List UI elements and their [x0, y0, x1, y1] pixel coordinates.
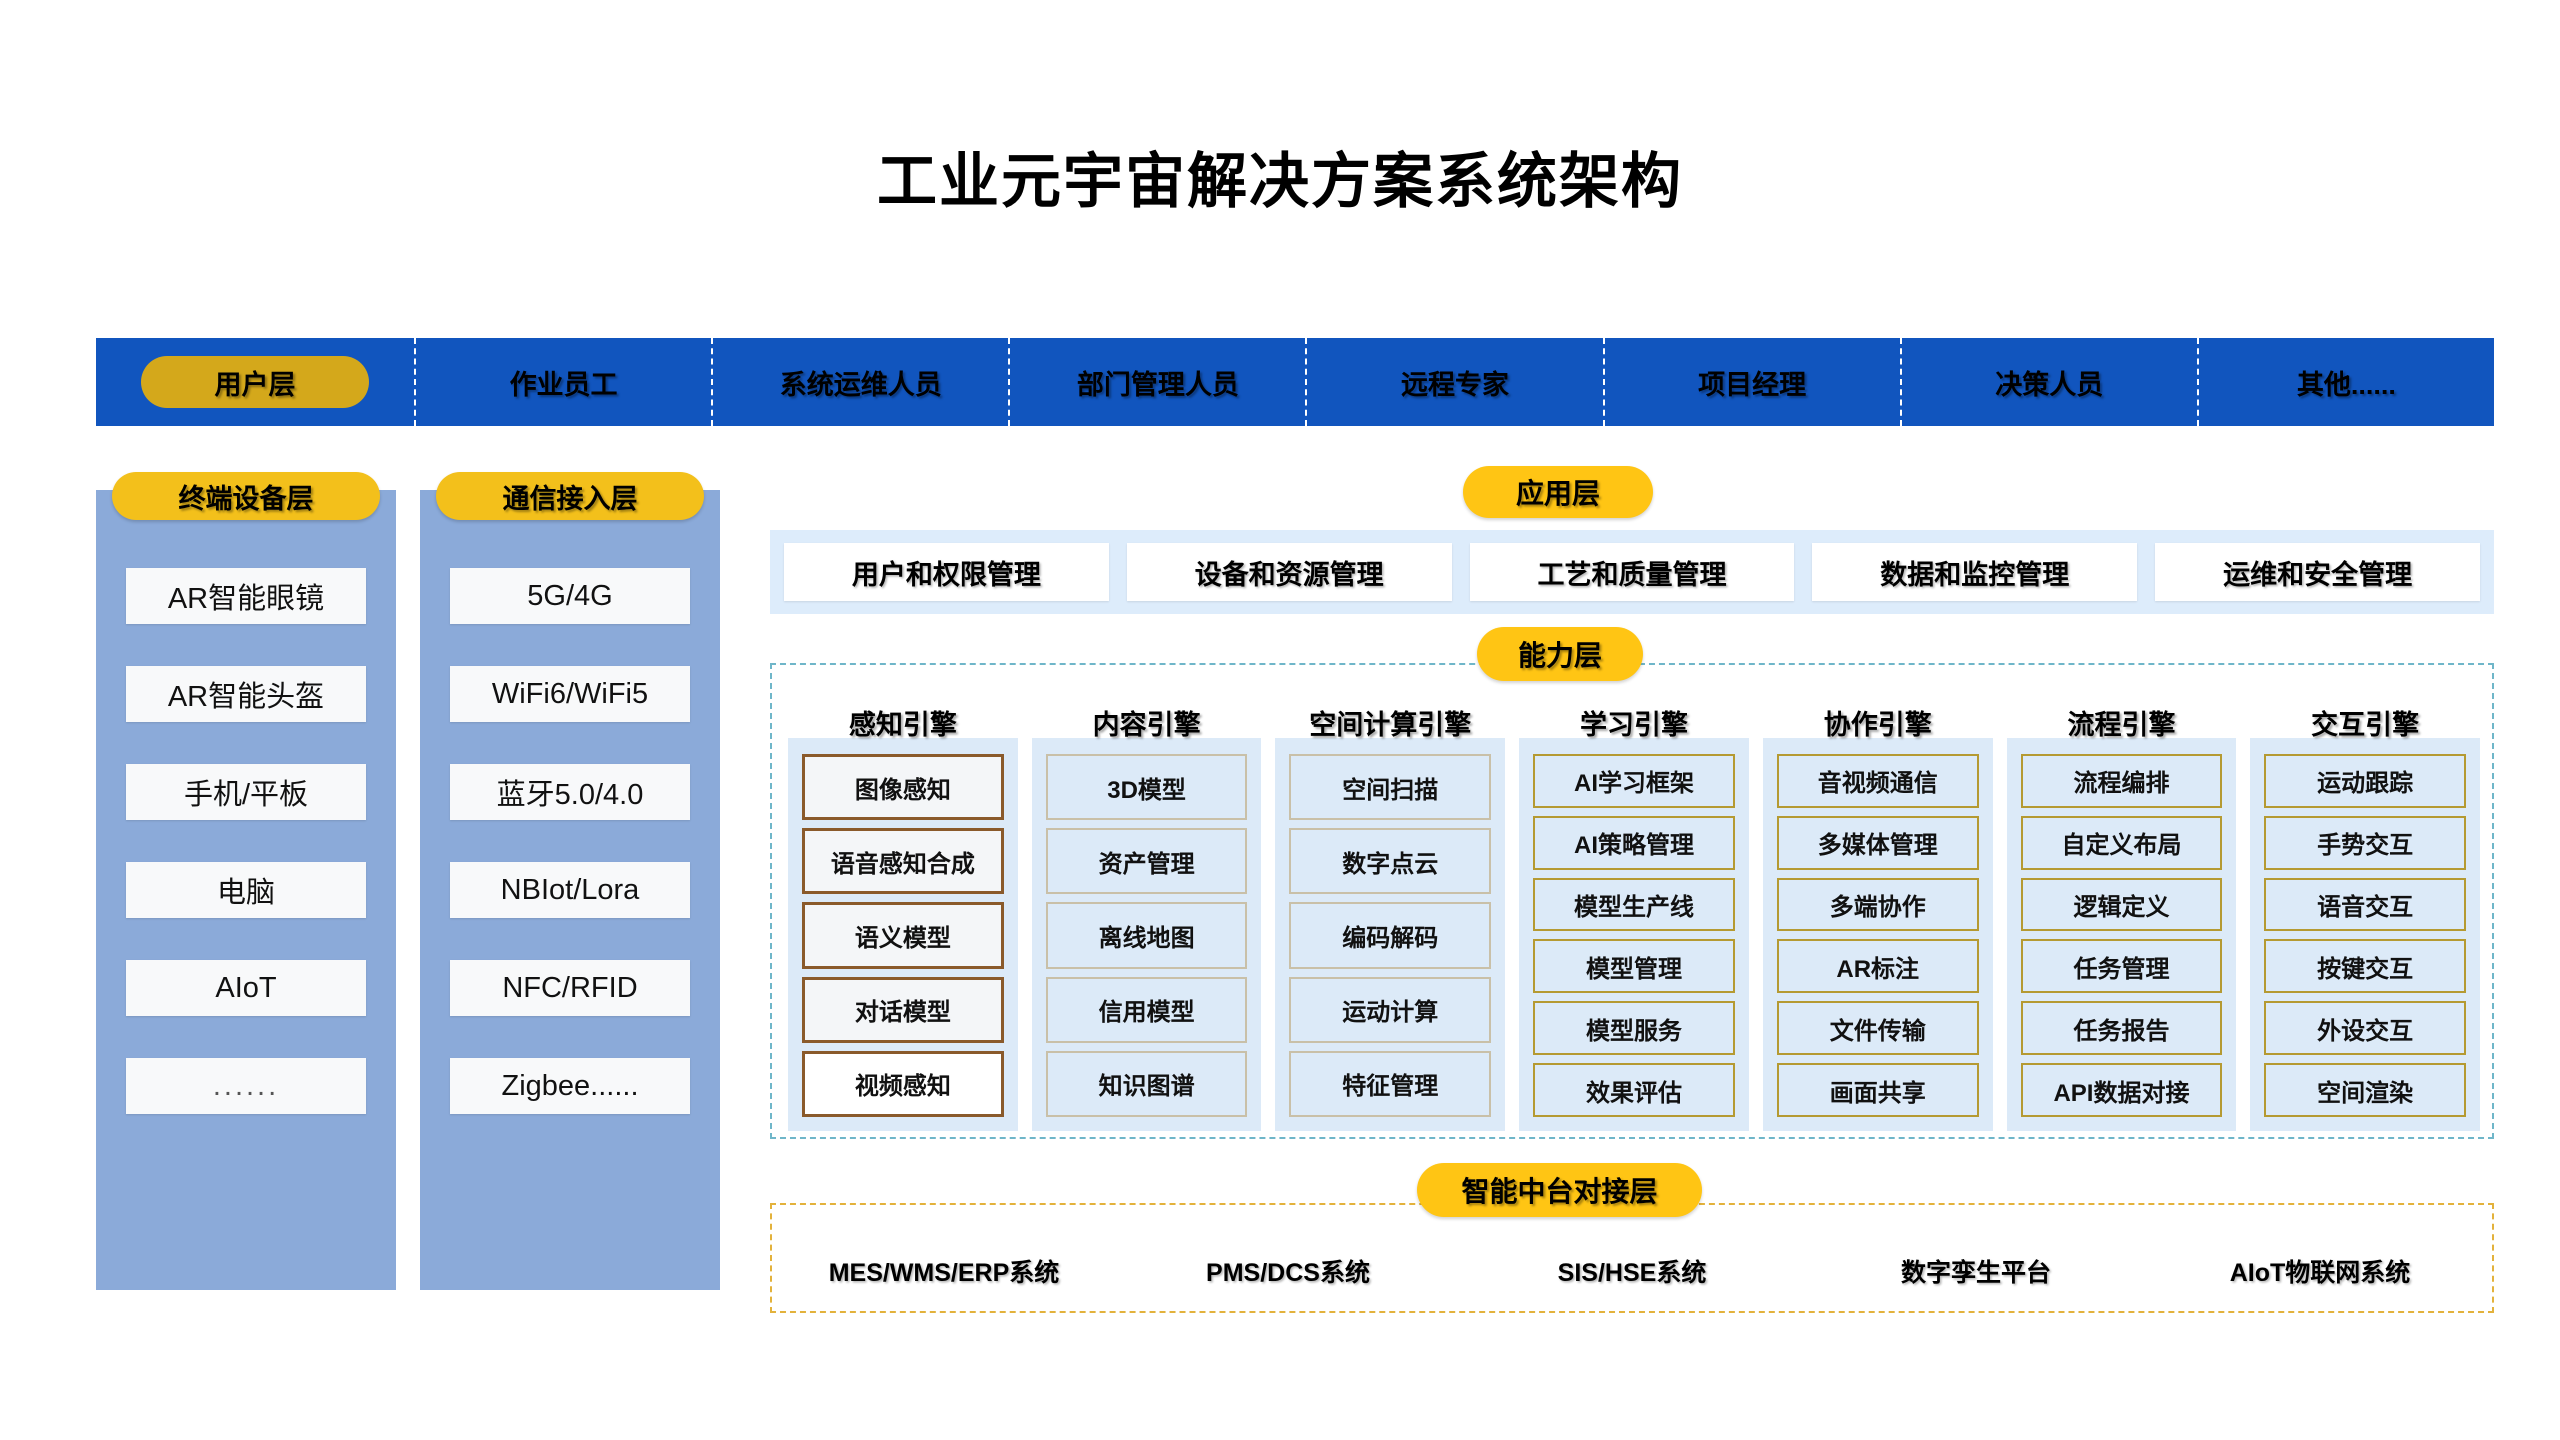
page-title: 工业元宇宙解决方案系统架构 [0, 133, 2560, 220]
capability-item: 音视频通信 [1777, 754, 1979, 808]
capability-item: API数据对接 [2021, 1063, 2223, 1117]
comm-item: 蓝牙5.0/4.0 [450, 764, 690, 820]
device-item: AIoT [126, 960, 366, 1016]
capability-item: 对话模型 [802, 977, 1004, 1043]
device-layer-items: AR智能眼镜 AR智能头盔 手机/平板 电脑 AIoT ...... [96, 568, 396, 1114]
comm-layer-column: 5G/4G WiFi6/WiFi5 蓝牙5.0/4.0 NBIot/Lora N… [420, 490, 720, 1290]
app-layer-band: 用户和权限管理 设备和资源管理 工艺和质量管理 数据和监控管理 运维和安全管理 [770, 530, 2494, 614]
user-role-cell: 系统运维人员 [713, 338, 1010, 426]
capability-item: 数字点云 [1289, 828, 1491, 894]
user-role-cell: 其他...... [2199, 338, 2494, 426]
capability-item: 任务报告 [2021, 1001, 2223, 1055]
capability-column-title: 流程引擎 [2007, 703, 2237, 742]
capability-item: 模型服务 [1533, 1001, 1735, 1055]
device-item: 手机/平板 [126, 764, 366, 820]
capability-item: 模型管理 [1533, 939, 1735, 993]
capability-column-panel: 流程编排 自定义布局 逻辑定义 任务管理 任务报告 API数据对接 [2007, 738, 2237, 1131]
capability-item: 语义模型 [802, 902, 1004, 968]
capability-item: 空间扫描 [1289, 754, 1491, 820]
user-role-cell: 部门管理人员 [1010, 338, 1307, 426]
capability-item: 多媒体管理 [1777, 816, 1979, 870]
capability-column-panel: 音视频通信 多媒体管理 多端协作 AR标注 文件传输 画面共享 [1763, 738, 1993, 1131]
capability-column-panel: AI学习框架 AI策略管理 模型生产线 模型管理 模型服务 效果评估 [1519, 738, 1749, 1131]
app-item: 数据和监控管理 [1812, 543, 2137, 601]
user-layer-pill-cell: 用户层 [96, 338, 416, 426]
capability-item: 手势交互 [2264, 816, 2466, 870]
comm-item: 5G/4G [450, 568, 690, 624]
capability-column-collaboration: 协作引擎 音视频通信 多媒体管理 多端协作 AR标注 文件传输 画面共享 [1763, 705, 1993, 1131]
capability-column-title: 交互引擎 [2250, 703, 2480, 742]
capability-item: 空间渲染 [2264, 1063, 2466, 1117]
capability-item: 信用模型 [1046, 977, 1248, 1043]
capability-column-title: 协作引擎 [1763, 703, 1993, 742]
capability-item: 运动跟踪 [2264, 754, 2466, 808]
capability-item: 按键交互 [2264, 939, 2466, 993]
middle-platform-item: SIS/HSE系统 [1460, 1253, 1804, 1289]
capability-item: AI策略管理 [1533, 816, 1735, 870]
app-item: 设备和资源管理 [1127, 543, 1452, 601]
capability-item: 图像感知 [802, 754, 1004, 820]
comm-item: NFC/RFID [450, 960, 690, 1016]
comm-layer-items: 5G/4G WiFi6/WiFi5 蓝牙5.0/4.0 NBIot/Lora N… [420, 568, 720, 1114]
middle-platform-band: MES/WMS/ERP系统 PMS/DCS系统 SIS/HSE系统 数字孪生平台… [770, 1203, 2494, 1313]
capability-item: 运动计算 [1289, 977, 1491, 1043]
comm-item: Zigbee...... [450, 1058, 690, 1114]
capability-column-panel: 运动跟踪 手势交互 语音交互 按键交互 外设交互 空间渲染 [2250, 738, 2480, 1131]
app-layer-items: 用户和权限管理 设备和资源管理 工艺和质量管理 数据和监控管理 运维和安全管理 [784, 543, 2480, 601]
capability-item: 离线地图 [1046, 902, 1248, 968]
comm-item: NBIot/Lora [450, 862, 690, 918]
capability-item: 文件传输 [1777, 1001, 1979, 1055]
capability-column-title: 内容引擎 [1032, 703, 1262, 742]
capability-item: 多端协作 [1777, 878, 1979, 932]
comm-item: WiFi6/WiFi5 [450, 666, 690, 722]
capability-item: 知识图谱 [1046, 1051, 1248, 1117]
capability-item: 语音交互 [2264, 878, 2466, 932]
capability-column-panel: 空间扫描 数字点云 编码解码 运动计算 特征管理 [1275, 738, 1505, 1131]
device-item: AR智能头盔 [126, 666, 366, 722]
capability-column-title: 学习引擎 [1519, 703, 1749, 742]
capability-item: 画面共享 [1777, 1063, 1979, 1117]
middle-platform-item: MES/WMS/ERP系统 [772, 1253, 1116, 1289]
capability-column-title: 空间计算引擎 [1275, 703, 1505, 742]
capability-layer-columns: 感知引擎 图像感知 语音感知合成 语义模型 对话模型 视频感知 内容引擎 3D模… [788, 705, 2480, 1131]
middle-platform-item: PMS/DCS系统 [1116, 1253, 1460, 1289]
capability-item: 流程编排 [2021, 754, 2223, 808]
capability-item: 3D模型 [1046, 754, 1248, 820]
architecture-diagram: 工业元宇宙解决方案系统架构 用户层 作业员工 系统运维人员 部门管理人员 远程专… [0, 0, 2560, 1440]
middle-platform-item: AIoT物联网系统 [2148, 1253, 2492, 1289]
capability-item: 自定义布局 [2021, 816, 2223, 870]
capability-item: 效果评估 [1533, 1063, 1735, 1117]
device-item: 电脑 [126, 862, 366, 918]
capability-item: 模型生产线 [1533, 878, 1735, 932]
device-item-more: ...... [126, 1058, 366, 1114]
app-item: 用户和权限管理 [784, 543, 1109, 601]
capability-column-interaction: 交互引擎 运动跟踪 手势交互 语音交互 按键交互 外设交互 空间渲染 [2250, 705, 2480, 1131]
capability-item: 逻辑定义 [2021, 878, 2223, 932]
user-role-cell: 决策人员 [1902, 338, 2199, 426]
device-item: AR智能眼镜 [126, 568, 366, 624]
user-role-cell: 远程专家 [1307, 338, 1604, 426]
capability-item: 编码解码 [1289, 902, 1491, 968]
middle-platform-items: MES/WMS/ERP系统 PMS/DCS系统 SIS/HSE系统 数字孪生平台… [772, 1205, 2492, 1311]
comm-layer-pill: 通信接入层 [436, 472, 704, 520]
device-layer-column: AR智能眼镜 AR智能头盔 手机/平板 电脑 AIoT ...... [96, 490, 396, 1290]
capability-layer-pill: 能力层 [1477, 627, 1643, 681]
capability-column-process: 流程引擎 流程编排 自定义布局 逻辑定义 任务管理 任务报告 API数据对接 [2007, 705, 2237, 1131]
capability-column-spatial-computing: 空间计算引擎 空间扫描 数字点云 编码解码 运动计算 特征管理 [1275, 705, 1505, 1131]
capability-item: 语音感知合成 [802, 828, 1004, 894]
capability-column-title: 感知引擎 [788, 703, 1018, 742]
capability-column-learning: 学习引擎 AI学习框架 AI策略管理 模型生产线 模型管理 模型服务 效果评估 [1519, 705, 1749, 1131]
middle-platform-pill: 智能中台对接层 [1417, 1163, 1702, 1217]
capability-column-panel: 3D模型 资产管理 离线地图 信用模型 知识图谱 [1032, 738, 1262, 1131]
device-layer-pill: 终端设备层 [112, 472, 380, 520]
user-layer-pill: 用户层 [141, 356, 369, 408]
capability-column-content: 内容引擎 3D模型 资产管理 离线地图 信用模型 知识图谱 [1032, 705, 1262, 1131]
capability-item: 任务管理 [2021, 939, 2223, 993]
middle-platform-item: 数字孪生平台 [1804, 1253, 2148, 1289]
user-role-cell: 项目经理 [1605, 338, 1902, 426]
app-item: 工艺和质量管理 [1470, 543, 1795, 601]
app-item: 运维和安全管理 [2155, 543, 2480, 601]
user-role-cell: 作业员工 [416, 338, 713, 426]
capability-item: 资产管理 [1046, 828, 1248, 894]
capability-item: AI学习框架 [1533, 754, 1735, 808]
app-layer-pill: 应用层 [1463, 466, 1653, 518]
capability-item: AR标注 [1777, 939, 1979, 993]
capability-column-perception: 感知引擎 图像感知 语音感知合成 语义模型 对话模型 视频感知 [788, 705, 1018, 1131]
capability-item: 外设交互 [2264, 1001, 2466, 1055]
capability-column-panel: 图像感知 语音感知合成 语义模型 对话模型 视频感知 [788, 738, 1018, 1131]
capability-item: 特征管理 [1289, 1051, 1491, 1117]
user-layer-bar: 用户层 作业员工 系统运维人员 部门管理人员 远程专家 项目经理 决策人员 其他… [96, 338, 2494, 426]
capability-item: 视频感知 [802, 1051, 1004, 1117]
